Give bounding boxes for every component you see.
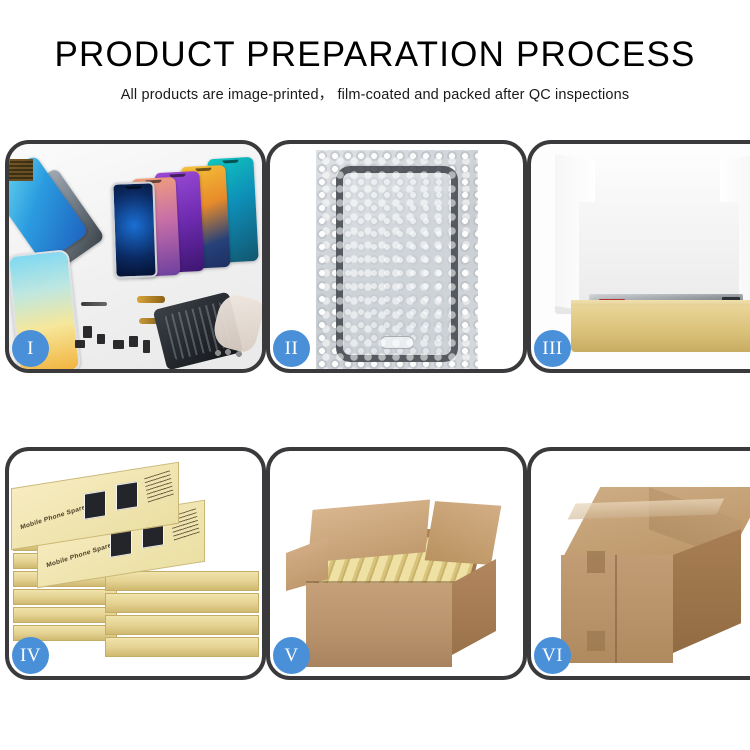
retail-box-thumb-1b: [116, 481, 138, 510]
step-badge-1: I: [12, 330, 49, 367]
carton-seam: [615, 555, 617, 663]
process-step-1: I: [5, 140, 266, 373]
photo-open-shipping-carton: [270, 451, 523, 676]
phone-notch-icon: [125, 186, 141, 190]
process-step-2: II: [266, 140, 527, 373]
retail-box-r4: [105, 637, 259, 657]
part-small-2: [97, 334, 105, 344]
step-badge-3: III: [534, 330, 571, 367]
retail-box-l5: [13, 607, 117, 623]
photo-bubble-wrapped-screen: [270, 144, 523, 369]
photo-phone-screens-and-spare-parts: [9, 144, 262, 369]
page-subtitle: All products are image-printed， film-coa…: [0, 83, 750, 104]
process-step-grid: I II III: [5, 140, 745, 680]
part-small-1: [83, 326, 92, 338]
product-preparation-process-infographic: PRODUCT PREPARATION PROCESS All products…: [0, 0, 750, 750]
part-connector-grid: [9, 159, 33, 181]
retail-box-r3: [105, 615, 259, 635]
page-title: PRODUCT PREPARATION PROCESS: [0, 34, 750, 76]
process-step-5: V: [266, 447, 527, 680]
part-small-5: [143, 340, 150, 353]
step-badge-5: V: [273, 637, 310, 674]
kraft-box-body: [571, 306, 750, 352]
part-small-6: [75, 340, 85, 348]
retail-box-thumb-1a: [84, 490, 106, 519]
header: PRODUCT PREPARATION PROCESS All products…: [0, 34, 750, 104]
retail-box-l4: [13, 589, 117, 605]
process-step-6: VI: [527, 447, 750, 680]
part-small-4: [129, 336, 138, 347]
bubble-wrap-highlights: [316, 150, 478, 369]
photo-stacked-retail-boxes: Mobile Phone Spare Parts Mobile Phone Sp…: [9, 451, 262, 676]
part-flex-strip: [81, 302, 107, 306]
step-badge-6: VI: [534, 637, 571, 674]
phone-notch-icon: [222, 160, 238, 164]
carton-front-face: [561, 555, 673, 663]
part-small-3: [113, 340, 124, 349]
foam-inner-surface: [579, 202, 739, 300]
phone-notch-icon: [195, 168, 211, 172]
retail-box-stack: Mobile Phone Spare Parts Mobile Phone Sp…: [9, 451, 262, 676]
retail-box-r2: [105, 593, 259, 613]
carton-flap-right: [425, 501, 502, 565]
process-step-3: III: [527, 140, 750, 373]
part-flex-cable-1: [137, 296, 165, 303]
retail-box-r1: [105, 571, 259, 591]
retail-box-spec-lines-1: [144, 470, 174, 503]
process-step-4: Mobile Phone Spare Parts Mobile Phone Sp…: [5, 447, 266, 680]
part-screws: [214, 348, 248, 358]
carton-front-face: [306, 583, 452, 667]
carton-tab-upper: [587, 551, 605, 573]
phone-fan-5: [111, 181, 157, 278]
carton-tab-lower: [587, 631, 605, 651]
step-badge-4: IV: [12, 637, 49, 674]
step-badge-2: II: [273, 330, 310, 367]
